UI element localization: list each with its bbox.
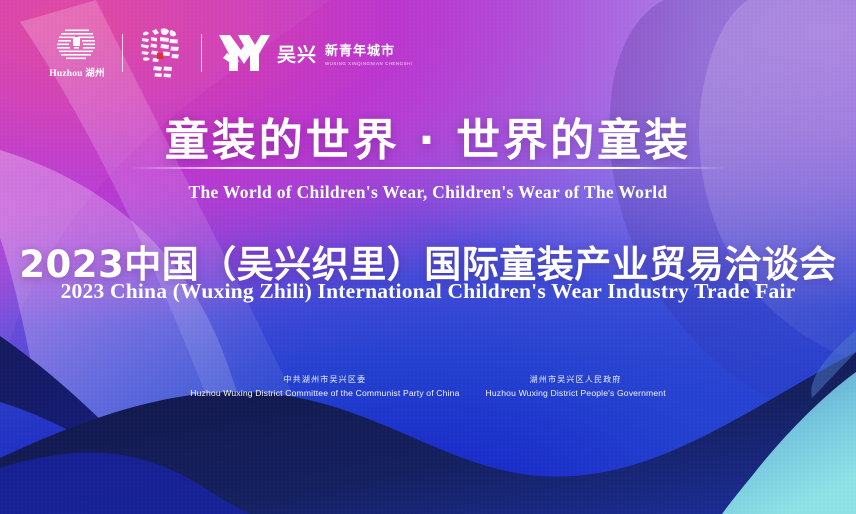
- wuxing-logo: 吴兴 新青年城市 WUXING XINQINGNIAN CHENGSHI: [218, 33, 413, 73]
- organizer-list: 中共湖州市吴兴区委 Huzhou Wuxing District Committ…: [0, 374, 856, 398]
- logo-divider-1: [122, 34, 123, 72]
- wuxing-logo-label: 吴兴: [277, 40, 317, 67]
- logo-bar: Huzhou 湖州: [48, 24, 413, 82]
- organizer-name-en: Huzhou Wuxing District People's Governme…: [486, 388, 666, 398]
- organizer-name-en: Huzhou Wuxing District Committee of the …: [190, 388, 459, 398]
- huzhou-calligraphy-seal-icon: [139, 27, 185, 79]
- event-banner: Huzhou 湖州: [0, 0, 856, 514]
- wuxing-slogan-cn: 新青年城市: [325, 40, 395, 59]
- huzhou-seal-logo: [139, 27, 185, 79]
- wuxing-slogan-en: WUXING XINQINGNIAN CHENGSHI: [325, 61, 413, 66]
- wuxing-w-mark-icon: [218, 33, 270, 73]
- logo-divider-2: [201, 34, 202, 72]
- organizer-name-cn: 中共湖州市吴兴区委: [190, 374, 459, 385]
- organizer-item: 湖州市吴兴区人民政府 Huzhou Wuxing District People…: [486, 374, 666, 398]
- main-slogan-cn: 童装的世界 · 世界的童装: [0, 104, 856, 168]
- slogan-divider: [128, 167, 728, 169]
- huzhou-logo: Huzhou 湖州: [48, 28, 106, 79]
- main-slogan-en: The World of Children's Wear, Children's…: [0, 182, 856, 203]
- organizer-item: 中共湖州市吴兴区委 Huzhou Wuxing District Committ…: [190, 374, 459, 398]
- huzhou-logo-label: Huzhou 湖州: [49, 65, 104, 79]
- huzhou-city-mark-icon: [52, 28, 102, 62]
- event-headline-en: 2023 China (Wuxing Zhili) International …: [0, 279, 856, 304]
- organizer-name-cn: 湖州市吴兴区人民政府: [486, 374, 666, 385]
